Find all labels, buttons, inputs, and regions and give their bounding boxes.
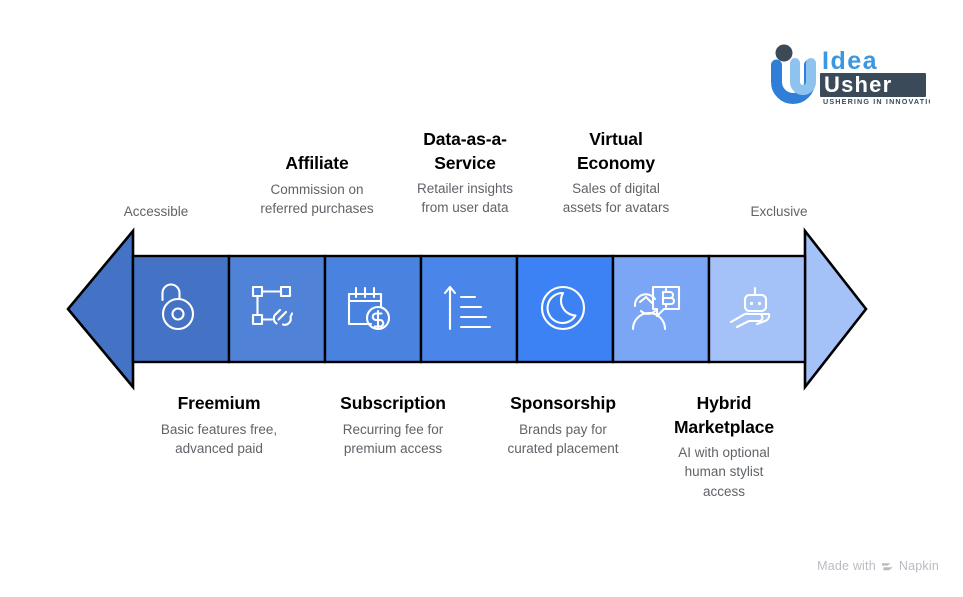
- svg-text:Idea: Idea: [822, 47, 878, 75]
- label-virtual-economy-desc: Sales of digitalassets for avatars: [537, 179, 695, 217]
- segment-sponsorship: [517, 256, 613, 362]
- label-subscription-desc: Recurring fee forpremium access: [308, 420, 478, 458]
- arrow-head-right: [805, 231, 866, 387]
- label-hybrid-marketplace-desc: AI with optionalhuman stylistaccess: [645, 443, 803, 500]
- label-subscription: Subscription Recurring fee forpremium ac…: [308, 392, 478, 458]
- segment-hybrid-marketplace: [709, 256, 805, 362]
- label-freemium-desc: Basic features free,advanced paid: [134, 420, 304, 458]
- label-freemium-title: Freemium: [134, 392, 304, 416]
- watermark-napkin-text: Napkin: [899, 559, 939, 573]
- svg-text:USHERING IN INNOVATION: USHERING IN INNOVATION: [823, 97, 930, 106]
- label-data-as-a-service-title: Data-as-a-Service: [386, 128, 544, 175]
- label-affiliate-title: Affiliate: [232, 152, 402, 176]
- endcap-label-left-text: Accessible: [124, 204, 189, 219]
- endcap-label-right: Exclusive: [733, 204, 825, 219]
- napkin-chevrons-icon: [881, 560, 894, 573]
- label-virtual-economy: VirtualEconomy Sales of digitalassets fo…: [537, 128, 695, 218]
- svg-text:Usher: Usher: [824, 72, 892, 97]
- label-data-as-a-service: Data-as-a-Service Retailer insightsfrom …: [386, 128, 544, 218]
- label-data-as-a-service-desc: Retailer insightsfrom user data: [386, 179, 544, 217]
- label-affiliate-desc: Commission onreferred purchases: [232, 180, 402, 218]
- segment-virtual-economy: [613, 256, 709, 362]
- label-hybrid-marketplace-title: HybridMarketplace: [645, 392, 803, 439]
- label-affiliate: Affiliate Commission onreferred purchase…: [232, 152, 402, 218]
- label-sponsorship-title: Sponsorship: [476, 392, 650, 416]
- brand-logo: Idea Usher USHERING IN INNOVATION: [770, 44, 930, 106]
- napkin-watermark: Made with Napkin: [817, 559, 939, 573]
- label-sponsorship: Sponsorship Brands pay forcurated placem…: [476, 392, 650, 458]
- label-virtual-economy-title: VirtualEconomy: [537, 128, 695, 175]
- label-freemium: Freemium Basic features free,advanced pa…: [134, 392, 304, 458]
- arrow-shape: [0, 226, 963, 392]
- spectrum-arrow: [0, 226, 963, 392]
- label-hybrid-marketplace: HybridMarketplace AI with optionalhuman …: [645, 392, 803, 501]
- endcap-label-right-text: Exclusive: [750, 204, 807, 219]
- label-sponsorship-desc: Brands pay forcurated placement: [476, 420, 650, 458]
- endcap-label-left: Accessible: [110, 204, 202, 219]
- idea-usher-u-logo-icon: Idea Usher USHERING IN INNOVATION: [770, 44, 930, 106]
- watermark-made-with-text: Made with: [817, 559, 876, 573]
- segment-data-as-a-service: [421, 256, 517, 362]
- segment-affiliate: [229, 256, 325, 362]
- arrow-head-left: [68, 231, 133, 387]
- label-subscription-title: Subscription: [308, 392, 478, 416]
